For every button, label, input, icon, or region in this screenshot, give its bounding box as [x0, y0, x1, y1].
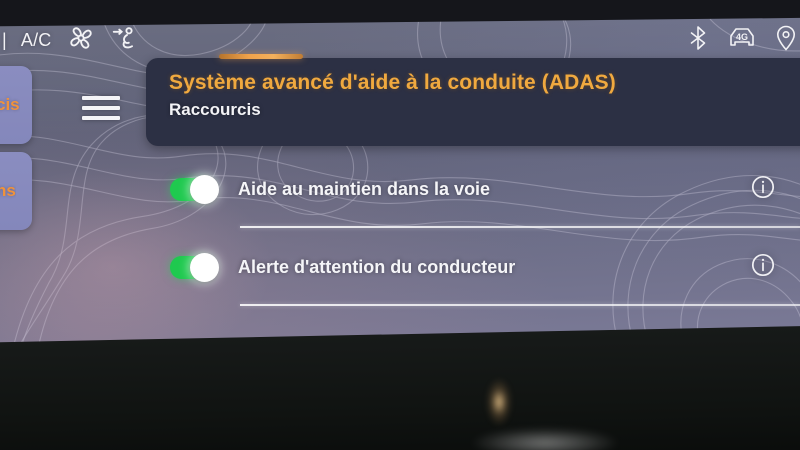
page-title: Système avancé d'aide à la conduite (ADA…	[169, 71, 800, 95]
bezel-bottom	[0, 325, 800, 450]
network-4g-icon[interactable]: 4G	[726, 25, 758, 56]
menu-bar	[82, 106, 120, 110]
infotainment-screenshot: | A/C	[0, 0, 800, 450]
active-tab-indicator	[219, 54, 303, 59]
seat-airflow-icon[interactable]	[110, 23, 140, 58]
toggle-driver-attention-alert[interactable]	[170, 256, 214, 279]
info-icon[interactable]	[750, 252, 776, 283]
list-item-label: Aide au maintien dans la voie	[238, 179, 490, 200]
list-item-label: Alerte d'attention du conducteur	[238, 257, 515, 278]
menu-bar	[82, 96, 120, 100]
row-divider	[240, 304, 800, 306]
hamburger-menu-icon[interactable]	[82, 92, 120, 124]
status-bar-right-group: 4G	[686, 24, 798, 57]
svg-text:4G: 4G	[736, 32, 748, 42]
toggle-knob	[190, 253, 219, 282]
bluetooth-icon[interactable]	[686, 25, 710, 56]
list-item[interactable]: Alerte d'attention du conducteur	[0, 228, 800, 306]
status-bar-left-group: | A/C	[2, 23, 140, 58]
side-card-label: cis	[0, 95, 20, 115]
toggle-lane-keep-assist[interactable]	[170, 178, 214, 201]
header-panel: Système avancé d'aide à la conduite (ADA…	[146, 58, 800, 146]
page-subtitle: Raccourcis	[169, 100, 800, 120]
info-icon[interactable]	[750, 174, 776, 205]
shortcut-list: Aide au maintien dans la voie Alerte d'a…	[0, 150, 800, 306]
ac-label[interactable]: A/C	[21, 30, 52, 51]
menu-bar	[82, 116, 120, 120]
toggle-knob	[190, 175, 219, 204]
fan-icon[interactable]	[66, 23, 96, 58]
location-pin-icon[interactable]	[774, 24, 798, 57]
list-item[interactable]: Aide au maintien dans la voie	[0, 150, 800, 228]
status-bar: | A/C	[0, 22, 800, 58]
side-card-shortcuts[interactable]: cis	[0, 66, 32, 144]
temperature-indicator[interactable]: |	[2, 30, 7, 51]
